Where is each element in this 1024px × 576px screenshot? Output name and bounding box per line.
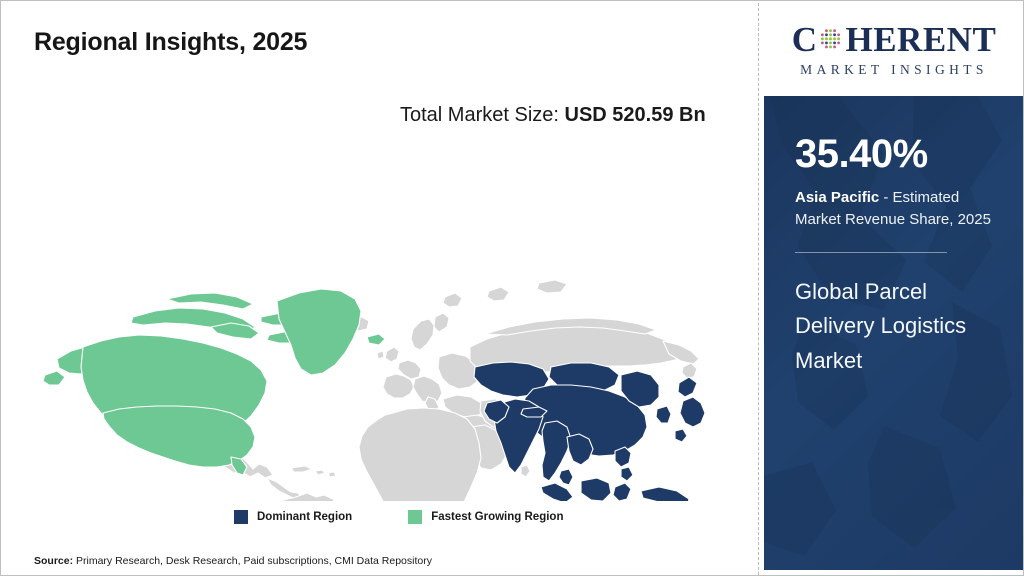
legend-label-fastest-growing: Fastest Growing Region xyxy=(431,511,563,523)
panel-content: 35.40% Asia Pacific - Estimated Market R… xyxy=(764,96,1024,570)
legend-item-fastest-growing: Fastest Growing Region xyxy=(408,510,563,524)
logo-letter-c: C xyxy=(792,22,818,57)
main-content-area: Regional Insights, 2025 Total Market Siz… xyxy=(1,1,758,575)
brand-logo: C xyxy=(764,2,1024,95)
globe-dots-icon xyxy=(817,26,844,53)
square-swatch-green-icon xyxy=(408,510,422,524)
world-map xyxy=(15,151,745,501)
revenue-share-caption: Asia Pacific - Estimated Market Revenue … xyxy=(795,187,994,231)
highlight-panel: 35.40% Asia Pacific - Estimated Market R… xyxy=(764,96,1024,570)
page-title: Regional Insights, 2025 xyxy=(34,28,307,57)
infographic-frame: Regional Insights, 2025 Total Market Siz… xyxy=(0,0,1024,576)
market-name: Global Parcel Delivery Logistics Market xyxy=(795,275,994,377)
vertical-divider xyxy=(758,3,759,575)
legend: Dominant Region Fastest Growing Region xyxy=(234,510,563,524)
total-market-size: Total Market Size: USD 520.59 Bn xyxy=(400,101,745,131)
revenue-share-value: 35.40% xyxy=(795,134,994,174)
panel-divider-rule xyxy=(795,252,947,253)
market-size-label: Total Market Size: xyxy=(400,104,565,126)
legend-label-dominant: Dominant Region xyxy=(257,511,352,523)
region-name: Asia Pacific xyxy=(795,189,879,206)
logo-wordmark: C xyxy=(792,20,997,60)
logo-subtitle: MARKET INSIGHTS xyxy=(800,62,988,78)
world-map-svg xyxy=(15,151,745,501)
map-region-fastest-growing xyxy=(43,289,385,475)
source-note: Source: Primary Research, Desk Research,… xyxy=(34,555,432,567)
square-swatch-navy-icon xyxy=(234,510,248,524)
legend-item-dominant: Dominant Region xyxy=(234,510,352,524)
map-region-dominant xyxy=(474,362,731,501)
source-value: Primary Research, Desk Research, Paid su… xyxy=(73,555,432,567)
logo-wordmark-text: HERENT xyxy=(845,22,996,57)
source-key: Source: xyxy=(34,555,73,567)
market-size-value: USD 520.59 Bn xyxy=(565,104,706,126)
